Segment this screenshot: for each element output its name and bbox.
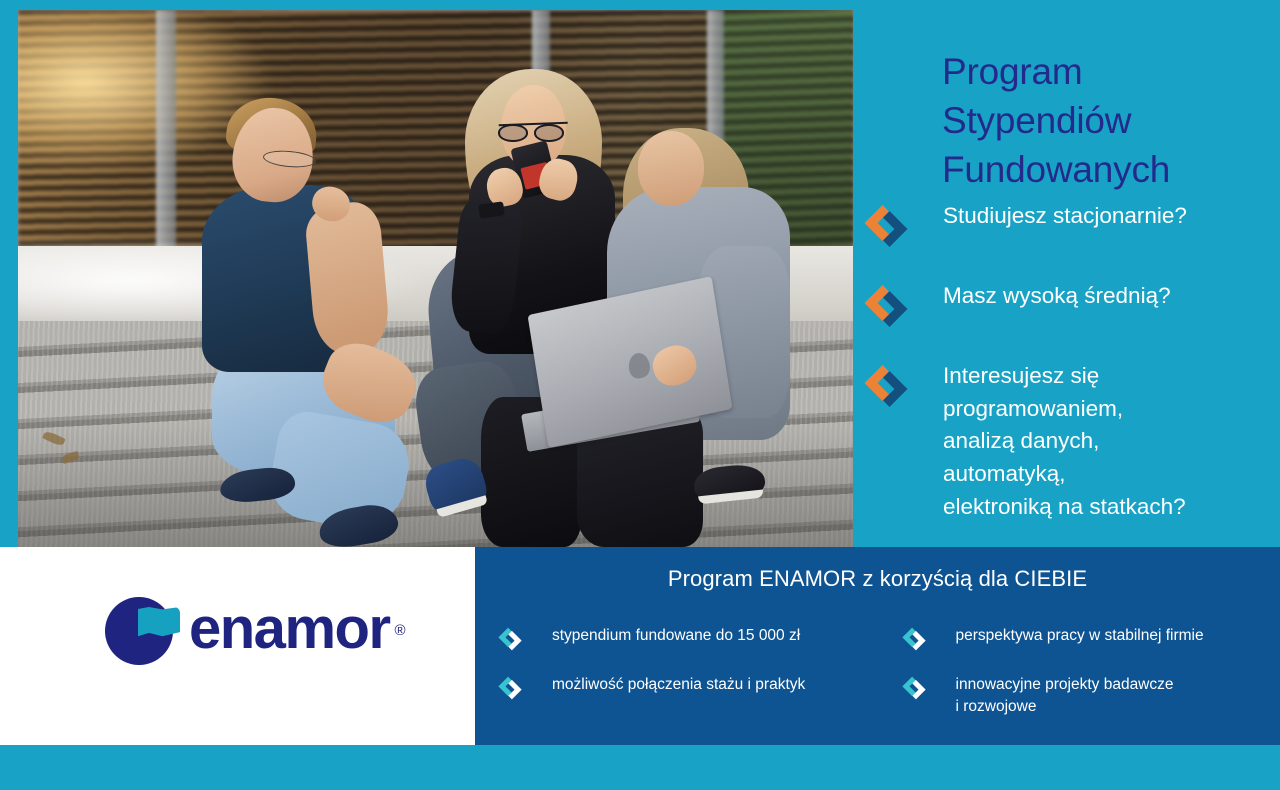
list-item: innowacyjne projekty badawcze i rozwojow…	[901, 674, 1270, 718]
benefit-line: i rozwojowe	[956, 696, 1174, 718]
chevron-pair-icon	[862, 282, 910, 330]
question-line: analizą danych,	[943, 425, 1186, 458]
benefits-banner: Program ENAMOR z korzyścią dla CIEBIE st…	[475, 547, 1280, 745]
enamor-logo: enamor ®	[105, 593, 390, 665]
chevron-pair-icon	[901, 675, 927, 701]
page-title-line-3: Fundowanych	[942, 146, 1272, 195]
chevron-pair-icon	[901, 626, 927, 652]
list-item-label: Studiujesz stacjonarnie?	[943, 200, 1187, 233]
list-item: perspektywa pracy w stabilnej firmie	[901, 625, 1270, 652]
question-line: Masz wysoką średnią?	[943, 280, 1171, 313]
bottom-teal-strip	[0, 745, 1280, 790]
students-photo	[18, 10, 853, 547]
question-line: Interesujesz się	[943, 360, 1186, 393]
list-item-label: stypendium fundowane do 15 000 zł	[552, 625, 800, 647]
list-item: stypendium fundowane do 15 000 zł	[497, 625, 901, 652]
page-title-line-1: Program	[942, 48, 1272, 97]
question-line: elektroniką na statkach?	[943, 491, 1186, 524]
benefit-line: stypendium fundowane do 15 000 zł	[552, 625, 800, 647]
laptop-logo-icon	[627, 351, 651, 379]
list-item-label: innowacyjne projekty badawcze i rozwojow…	[956, 674, 1174, 718]
benefits-columns: stypendium fundowane do 15 000 zł możliw…	[497, 625, 1270, 740]
list-item: Interesujesz się programowaniem, analizą…	[862, 360, 1280, 523]
person-woman-phone-glasses-bridge	[499, 122, 569, 143]
logo-panel: enamor ®	[0, 547, 475, 745]
benefits-column-right: perspektywa pracy w stabilnej firmie inn…	[901, 625, 1270, 740]
hero-text-column: Program Stypendiów Fundowanych Studiujes…	[862, 10, 1280, 547]
enamor-circle-flag-icon	[105, 593, 177, 665]
list-item: Masz wysoką średnią?	[862, 280, 1280, 330]
background-pillar	[156, 10, 176, 257]
chevron-pair-icon	[497, 626, 523, 652]
banner-title: Program ENAMOR z korzyścią dla CIEBIE	[475, 566, 1280, 592]
list-item-label: Interesujesz się programowaniem, analizą…	[943, 360, 1186, 523]
list-item: Studiujesz stacjonarnie?	[862, 200, 1280, 250]
page-title: Program Stypendiów Fundowanych	[942, 48, 1272, 194]
chevron-pair-icon	[497, 675, 523, 701]
question-line: automatyką,	[943, 458, 1186, 491]
question-line: Studiujesz stacjonarnie?	[943, 200, 1187, 233]
chevron-pair-icon	[862, 362, 910, 410]
page-title-line-2: Stypendiów	[942, 97, 1272, 146]
benefit-line: możliwość połączenia stażu i praktyk	[552, 674, 805, 696]
list-item: możliwość połączenia stażu i praktyk	[497, 674, 901, 701]
list-item-label: Masz wysoką średnią?	[943, 280, 1171, 313]
person-woman-laptop-head	[638, 131, 705, 206]
chevron-pair-icon	[862, 202, 910, 250]
benefit-line: perspektywa pracy w stabilnej firmie	[956, 625, 1204, 647]
list-item-label: możliwość połączenia stażu i praktyk	[552, 674, 805, 696]
logo-wordmark: enamor	[189, 600, 390, 658]
photo-scene	[18, 10, 853, 547]
list-item-label: perspektywa pracy w stabilnej firmie	[956, 625, 1204, 647]
benefit-line: innowacyjne projekty badawcze	[956, 674, 1174, 696]
benefits-column-left: stypendium fundowane do 15 000 zł możliw…	[497, 625, 901, 740]
question-list: Studiujesz stacjonarnie? Masz wysoką śre…	[862, 200, 1280, 553]
registered-trademark-icon: ®	[394, 623, 405, 638]
question-line: programowaniem,	[943, 393, 1186, 426]
scholarship-poster: Program Stypendiów Fundowanych Studiujes…	[0, 0, 1280, 790]
